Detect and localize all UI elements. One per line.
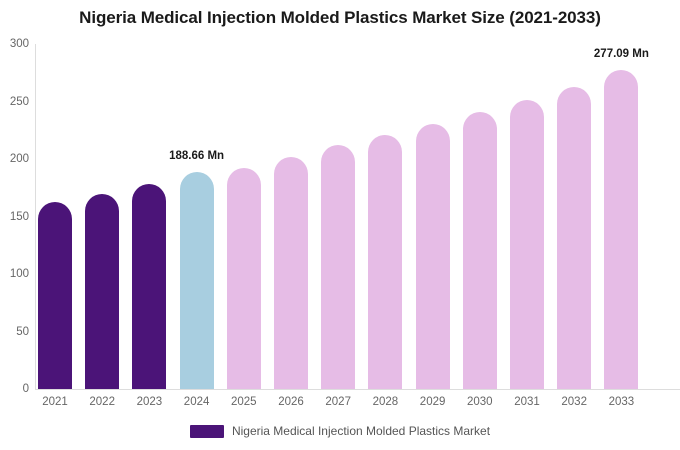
bar-2025[interactable] [227, 168, 261, 389]
x-axis-tick-label: 2033 [609, 396, 635, 408]
bar-2029[interactable] [416, 124, 450, 389]
x-axis-tick-label: 2028 [373, 396, 399, 408]
x-axis-tick-label: 2024 [184, 396, 210, 408]
bar-2033[interactable] [604, 70, 638, 389]
x-axis-tick-label: 2032 [561, 396, 587, 408]
x-axis-tick-label: 2026 [278, 396, 304, 408]
bar-2022[interactable] [85, 194, 119, 390]
x-axis-tick-label: 2031 [514, 396, 540, 408]
x-axis-tick-label: 2029 [420, 396, 446, 408]
bar-2030[interactable] [463, 112, 497, 389]
chart-legend: Nigeria Medical Injection Molded Plastic… [0, 424, 680, 438]
x-axis-tick-label: 2023 [137, 396, 163, 408]
bars-layer: 2021202220232024188.66 Mn202520262027202… [0, 0, 680, 450]
bar-2031[interactable] [510, 100, 544, 389]
bar-value-label-2024: 188.66 Mn [169, 150, 224, 162]
bar-2023[interactable] [132, 184, 166, 389]
x-axis-tick-label: 2025 [231, 396, 257, 408]
bar-2032[interactable] [557, 87, 591, 389]
bar-2027[interactable] [321, 145, 355, 389]
bar-2026[interactable] [274, 157, 308, 389]
x-axis-tick-label: 2021 [42, 396, 68, 408]
legend-swatch [190, 425, 224, 438]
legend-label: Nigeria Medical Injection Molded Plastic… [232, 424, 490, 438]
x-axis-tick-label: 2022 [89, 396, 115, 408]
x-axis-tick-label: 2027 [325, 396, 351, 408]
bar-2024[interactable] [180, 172, 214, 389]
bar-value-label-2033: 277.09 Mn [594, 48, 649, 60]
bar-2028[interactable] [368, 135, 402, 389]
x-axis-tick-label: 2030 [467, 396, 493, 408]
chart-container: Nigeria Medical Injection Molded Plastic… [0, 0, 680, 450]
bar-2021[interactable] [38, 202, 72, 389]
